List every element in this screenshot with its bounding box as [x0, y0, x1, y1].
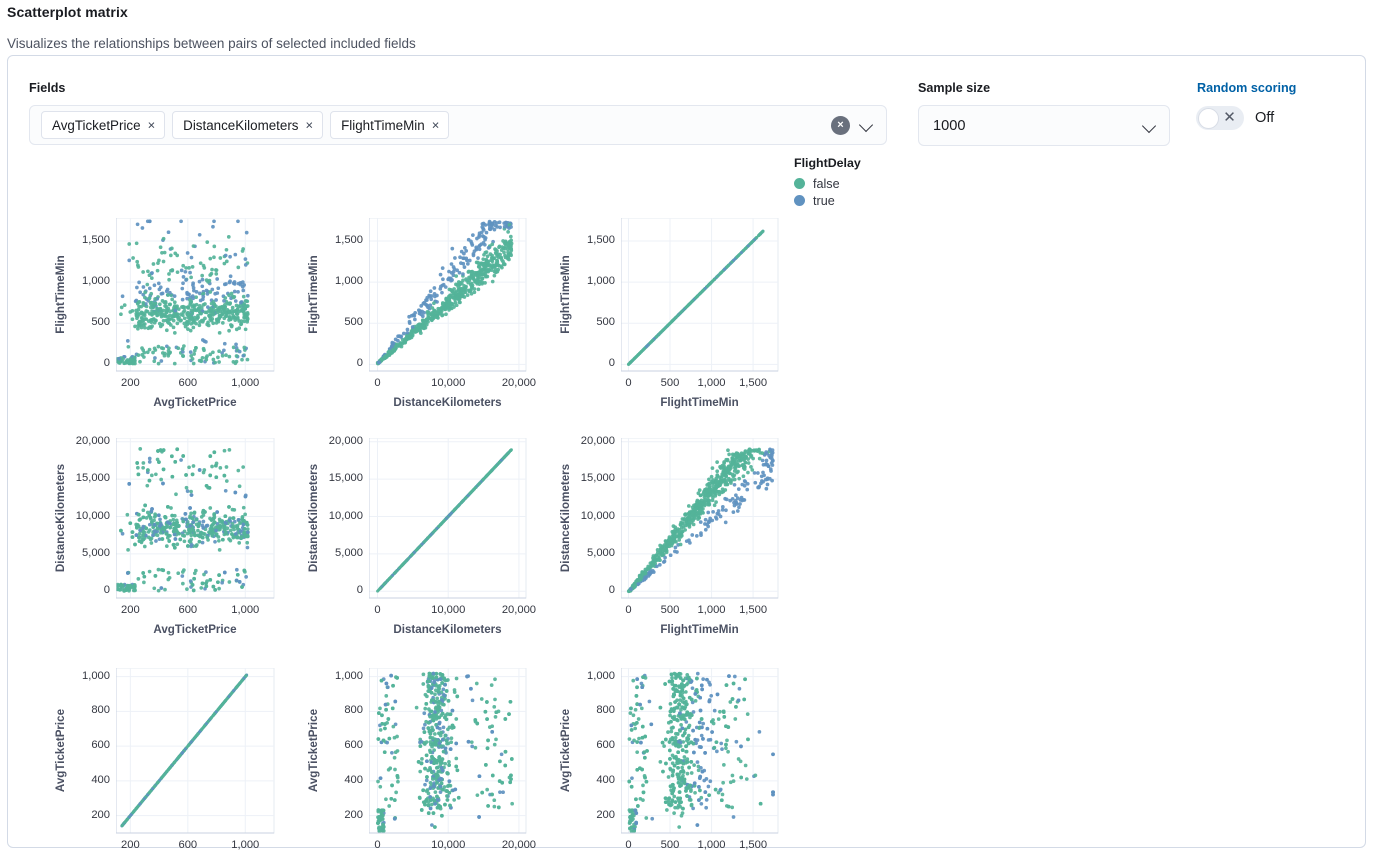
plot-area[interactable] — [621, 668, 779, 834]
close-icon[interactable]: × — [432, 118, 440, 131]
y-axis-tick-label: 0 — [69, 584, 110, 596]
legend-swatch-icon — [794, 178, 805, 189]
y-axis-title: DistanceKilometers — [54, 438, 67, 598]
random-scoring-state: Off — [1255, 110, 1274, 126]
fields-combobox-actions: × — [831, 116, 882, 135]
random-scoring-toggle[interactable]: ✕ — [1196, 106, 1244, 130]
close-icon[interactable]: × — [148, 118, 156, 131]
plot-area[interactable] — [116, 438, 275, 599]
x-axis-tick-label: 20,000 — [489, 377, 549, 389]
close-icon[interactable]: × — [306, 118, 314, 131]
y-axis-tick-label: 400 — [69, 774, 110, 786]
page-subtitle: Visualizes the relationships between pai… — [7, 36, 416, 51]
x-axis-tick-label: 1,500 — [723, 604, 783, 616]
y-axis-tick-label: 1,000 — [574, 275, 615, 287]
y-axis-tick-label: 0 — [322, 357, 363, 369]
sample-size-value: 1000 — [933, 118, 965, 134]
y-axis-tick-label: 200 — [69, 809, 110, 821]
random-scoring-row: ✕ Off — [1196, 106, 1274, 130]
y-axis-title: AvgTicketPrice — [54, 668, 67, 833]
field-pill-distancekilometers[interactable]: DistanceKilometers × — [172, 111, 323, 139]
scatterplot-matrix-page: Scatterplot matrix Visualizes the relati… — [0, 0, 1373, 859]
y-axis-tick-label: 0 — [574, 584, 615, 596]
y-axis-tick-label: 0 — [322, 584, 363, 596]
y-axis-tick-label: 0 — [574, 357, 615, 369]
plot-area[interactable] — [116, 218, 275, 372]
clear-all-icon[interactable]: × — [831, 116, 850, 135]
field-pill-label: DistanceKilometers — [183, 118, 298, 133]
y-axis-title: FlightTimeMin — [307, 218, 320, 371]
y-axis-tick-label: 1,500 — [69, 234, 110, 246]
x-axis-title: AvgTicketPrice — [96, 623, 294, 636]
y-axis-tick-label: 800 — [69, 704, 110, 716]
x-icon: ✕ — [1222, 110, 1237, 125]
field-pill-avgticketprice[interactable]: AvgTicketPrice × — [41, 111, 165, 139]
x-axis-tick-label: 200 — [100, 839, 160, 851]
legend-title: FlightDelay — [794, 156, 861, 170]
plot-area[interactable] — [369, 218, 527, 372]
y-axis-tick-label: 15,000 — [69, 472, 110, 484]
y-axis-tick-label: 600 — [574, 739, 615, 751]
y-axis-tick-label: 800 — [322, 704, 363, 716]
y-axis-tick-label: 400 — [574, 774, 615, 786]
plot-area[interactable] — [369, 438, 527, 599]
x-axis-title: DistanceKilometers — [349, 623, 546, 636]
y-axis-tick-label: 600 — [69, 739, 110, 751]
y-axis-tick-label: 10,000 — [322, 510, 363, 522]
x-axis-title: AvgTicketPrice — [96, 396, 294, 409]
y-axis-tick-label: 1,500 — [574, 234, 615, 246]
y-axis-tick-label: 500 — [322, 316, 363, 328]
x-axis-tick-label: 20,000 — [489, 839, 549, 851]
y-axis-tick-label: 500 — [574, 316, 615, 328]
x-axis-title: DistanceKilometers — [349, 396, 546, 409]
legend-swatch-icon — [794, 195, 805, 206]
fields-combobox[interactable]: AvgTicketPrice × DistanceKilometers × Fl… — [29, 105, 887, 145]
field-pill-label: AvgTicketPrice — [52, 118, 141, 133]
y-axis-tick-label: 15,000 — [574, 472, 615, 484]
x-axis-tick-label: 200 — [100, 377, 160, 389]
x-axis-title: FlightTimeMin — [601, 396, 798, 409]
y-axis-tick-label: 5,000 — [69, 547, 110, 559]
scatterplot-panel: Fields AvgTicketPrice × DistanceKilomete… — [7, 55, 1366, 848]
y-axis-tick-label: 1,500 — [322, 234, 363, 246]
plot-area[interactable] — [621, 438, 779, 599]
y-axis-tick-label: 0 — [69, 357, 110, 369]
x-axis-tick-label: 1,000 — [215, 377, 275, 389]
y-axis-tick-label: 600 — [322, 739, 363, 751]
y-axis-title: AvgTicketPrice — [307, 668, 320, 833]
chevron-down-icon[interactable] — [1143, 119, 1157, 133]
y-axis-title: FlightTimeMin — [559, 218, 572, 371]
y-axis-tick-label: 5,000 — [322, 547, 363, 559]
y-axis-tick-label: 15,000 — [322, 472, 363, 484]
plot-area[interactable] — [116, 668, 275, 834]
y-axis-title: AvgTicketPrice — [559, 668, 572, 833]
legend-item-false[interactable]: false — [794, 175, 861, 192]
sample-size-select[interactable]: 1000 — [918, 105, 1170, 146]
x-axis-tick-label: 10,000 — [418, 377, 478, 389]
y-axis-title: DistanceKilometers — [307, 438, 320, 598]
x-axis-tick-label: 1,000 — [215, 604, 275, 616]
x-axis-tick-label: 600 — [158, 604, 218, 616]
y-axis-tick-label: 5,000 — [574, 547, 615, 559]
legend: FlightDelay false true — [794, 156, 861, 209]
x-axis-tick-label: 600 — [158, 839, 218, 851]
y-axis-tick-label: 1,000 — [574, 670, 615, 682]
chevron-down-icon[interactable] — [860, 118, 874, 132]
fields-label: Fields — [29, 81, 65, 95]
y-axis-title: FlightTimeMin — [54, 218, 67, 371]
legend-item-true[interactable]: true — [794, 192, 861, 209]
plot-area[interactable] — [621, 218, 779, 372]
y-axis-tick-label: 1,000 — [69, 670, 110, 682]
y-axis-tick-label: 20,000 — [322, 435, 363, 447]
plot-area[interactable] — [369, 668, 527, 834]
random-scoring-label: Random scoring — [1197, 81, 1296, 95]
toggle-knob — [1198, 108, 1219, 129]
x-axis-tick-label: 0 — [347, 839, 407, 851]
x-axis-tick-label: 600 — [158, 377, 218, 389]
y-axis-tick-label: 10,000 — [574, 510, 615, 522]
x-axis-tick-label: 0 — [347, 377, 407, 389]
x-axis-title: FlightTimeMin — [601, 623, 798, 636]
y-axis-tick-label: 500 — [69, 316, 110, 328]
y-axis-tick-label: 1,000 — [322, 275, 363, 287]
field-pill-label: FlightTimeMin — [341, 118, 425, 133]
x-axis-tick-label: 1,500 — [723, 839, 783, 851]
x-axis-tick-label: 20,000 — [489, 604, 549, 616]
y-axis-tick-label: 200 — [574, 809, 615, 821]
y-axis-tick-label: 20,000 — [574, 435, 615, 447]
y-axis-tick-label: 10,000 — [69, 510, 110, 522]
sample-size-label: Sample size — [918, 81, 990, 95]
page-title: Scatterplot matrix — [7, 4, 128, 20]
x-axis-tick-label: 1,500 — [723, 377, 783, 389]
legend-item-label: true — [813, 194, 835, 208]
y-axis-title: DistanceKilometers — [559, 438, 572, 598]
x-axis-tick-label: 0 — [347, 604, 407, 616]
y-axis-tick-label: 200 — [322, 809, 363, 821]
x-axis-tick-label: 200 — [100, 604, 160, 616]
y-axis-tick-label: 20,000 — [69, 435, 110, 447]
legend-item-label: false — [813, 177, 840, 191]
y-axis-tick-label: 1,000 — [69, 275, 110, 287]
y-axis-tick-label: 400 — [322, 774, 363, 786]
y-axis-tick-label: 1,000 — [322, 670, 363, 682]
x-axis-tick-label: 1,000 — [215, 839, 275, 851]
x-axis-tick-label: 10,000 — [418, 839, 478, 851]
field-pill-flighttimemin[interactable]: FlightTimeMin × — [330, 111, 449, 139]
x-axis-tick-label: 10,000 — [418, 604, 478, 616]
y-axis-tick-label: 800 — [574, 704, 615, 716]
